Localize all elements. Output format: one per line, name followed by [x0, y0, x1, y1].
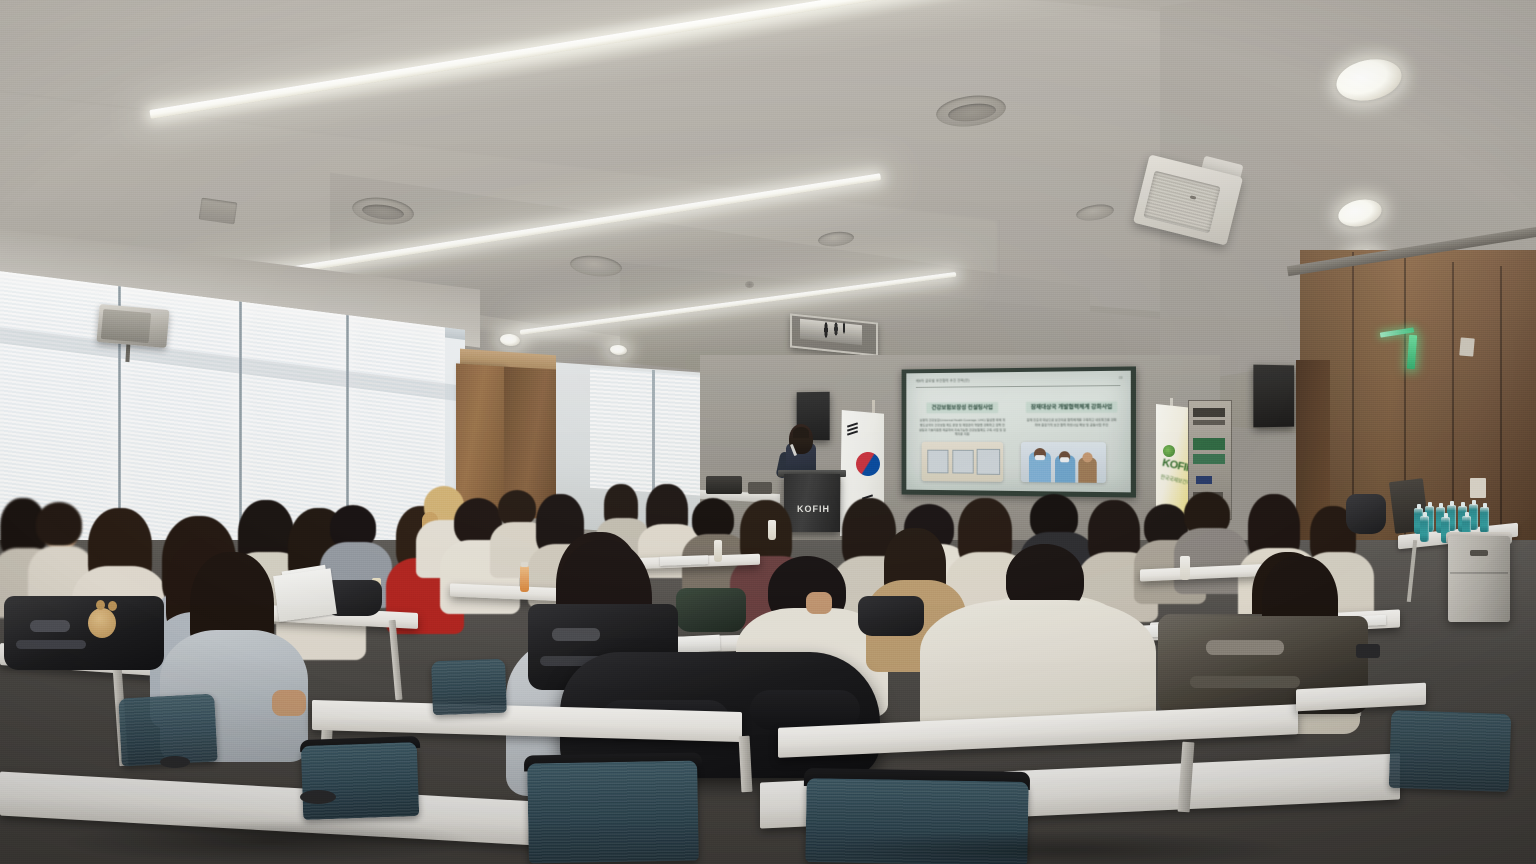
beverage-bottle[interactable] [520, 566, 529, 592]
floor-shadow [820, 830, 1300, 864]
attendee-hair [36, 502, 82, 546]
slide-right-photo [1021, 442, 1106, 483]
conference-chair[interactable] [1389, 710, 1512, 792]
notice-board-banner [1193, 454, 1225, 464]
backpack-strap [552, 628, 600, 641]
water-bottle[interactable] [1480, 507, 1489, 533]
waste-bin-seam [1450, 572, 1508, 574]
conference-chair[interactable] [431, 659, 507, 716]
av-equipment [706, 476, 742, 494]
projection-screen[interactable]: 제8차 글로벌 보건협력 추진 전략(안) 09 건강보험보장성 컨설팅사업 보… [906, 371, 1130, 493]
patient-head [1082, 452, 1092, 462]
beverage-cup[interactable] [1180, 556, 1190, 580]
waste-bin[interactable] [1448, 536, 1510, 622]
wall-plate [1459, 337, 1475, 356]
backpack-strap [16, 640, 86, 649]
bottle-cap [521, 562, 528, 567]
waste-bin-handle[interactable] [1470, 550, 1488, 556]
slide-kicker-text: 제8차 글로벌 보건협력 추진 전략(안) [916, 378, 970, 383]
chair-base [160, 756, 190, 768]
window-blind-panel[interactable] [590, 368, 710, 496]
sprinkler-head [745, 281, 754, 288]
attendee-hair [498, 490, 536, 526]
wall-speaker-left-grille [101, 309, 151, 343]
notice-board-banner [1193, 438, 1225, 450]
phone-device[interactable] [1356, 644, 1380, 658]
handbag[interactable] [858, 596, 924, 636]
presenter-hair-front [793, 427, 809, 438]
slide-left-heading: 건강보험보장성 컨설팅사업 [927, 402, 998, 413]
bag-charm-ear [108, 601, 117, 611]
backpack[interactable] [4, 596, 164, 670]
window-mullion [652, 370, 655, 494]
notice-board-line [1193, 420, 1225, 425]
attendee-hand [272, 690, 306, 716]
slide-divider [916, 385, 1121, 388]
slide-left-body: 보편적 건강보장(Universal Health Coverage, UHC)… [914, 418, 1011, 437]
slide-page-number: 09 [1119, 376, 1123, 380]
handout-paper[interactable] [660, 555, 708, 566]
beverage-bottle[interactable] [714, 540, 722, 562]
slide-right-heading: 잠재대상국 개발협력체계 강화사업 [1026, 401, 1118, 413]
podium [784, 474, 840, 532]
slide-right-body: 잠재 진출국 대상으로 보건의료 협력체계를 구축하고 네트워크를 강화하여 중… [1021, 418, 1123, 428]
av-equipment [748, 482, 772, 494]
attendee-hand [806, 592, 832, 614]
backpack[interactable] [676, 588, 746, 632]
wall-speaker-front-right [1253, 365, 1294, 428]
backpack-strap [1206, 640, 1284, 655]
backpack-strap [30, 620, 70, 632]
podium-logo-text: KOFIH [797, 504, 830, 514]
notice-board-item [1196, 476, 1212, 484]
water-bottle[interactable] [1420, 516, 1429, 542]
backpack-strap [1190, 676, 1300, 688]
face-mask [1035, 455, 1045, 460]
beverage-bottle[interactable] [768, 520, 776, 540]
seminar-room-photo: 제8차 글로벌 보건협력 추진 전략(안) 09 건강보험보장성 컨설팅사업 보… [0, 0, 1536, 864]
notice-board-line [1193, 408, 1225, 417]
slide-left-panel: 건강보험보장성 컨설팅사업 보편적 건강보장(Universal Health … [914, 396, 1011, 437]
projector-cables [820, 316, 850, 344]
slide-right-panel: 잠재대상국 개발협력체계 강화사업 잠재 진출국 대상으로 보건의료 협력체계를… [1021, 395, 1123, 427]
kofih-logo-icon [1163, 445, 1175, 457]
face-mask [1060, 457, 1069, 462]
conference-chair[interactable] [301, 742, 420, 820]
slide-left-photo [922, 442, 1004, 482]
chair-base [300, 790, 336, 804]
backpack[interactable] [1346, 494, 1386, 534]
conference-chair[interactable] [527, 761, 699, 864]
bag-charm-ear [96, 600, 105, 610]
wall-outlet[interactable] [1470, 478, 1486, 498]
floor-shadow [60, 820, 480, 864]
bag-charm [88, 608, 116, 638]
wood-column-left [456, 363, 504, 516]
handout-booklet[interactable] [273, 568, 337, 622]
